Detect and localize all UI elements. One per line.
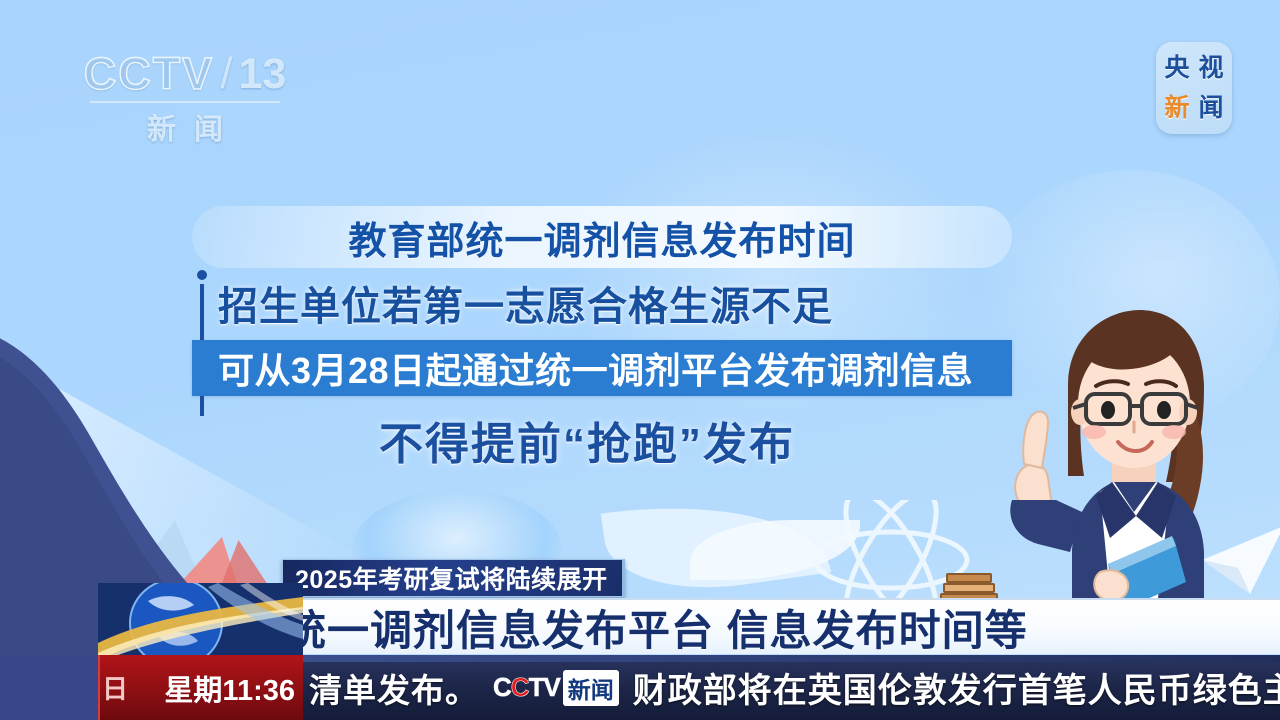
ticker-content: 清单发布。 CCTV 新闻 财政部将在英国伦敦发行首笔人民币绿色主权 — [303, 655, 1280, 720]
info-line-2: 招生单位若第一志愿合格生源不足 — [192, 274, 1012, 332]
cctv-news-mini-logo: CCTV 新闻 — [493, 670, 619, 706]
info-line-4: 不得提前“抢跑”发布 — [192, 408, 1012, 472]
info-line-3: 可从3月28日起通过统一调剂平台发布调剂信息 — [192, 340, 1012, 396]
news-ticker: 日 星期11:36 清单发布。 CCTV 新闻 财政部将在英国伦敦发行首笔人民币… — [0, 655, 1280, 720]
channel-number: 13 — [238, 50, 286, 99]
infographic-panel: 教育部统一调剂信息发布时间 招生单位若第一志愿合格生源不足 可从3月28日起通过… — [192, 206, 1012, 472]
headline-text: 统一调剂信息发布平台 信息发布时间等 — [284, 597, 1028, 658]
logo-char-xin: 新 — [1164, 96, 1189, 121]
ticker-clock: 日 星期11:36 — [98, 655, 303, 720]
logo-char-wen: 闻 — [1198, 96, 1223, 121]
ticker-headline-text: 财政部将在英国伦敦发行首笔人民币绿色主权 — [633, 663, 1280, 712]
logo-char-yang: 央 — [1164, 56, 1189, 81]
ticker-time: 星期11:36 — [164, 667, 295, 709]
yangshi-xinwen-logo: 央 视 新 闻 — [1156, 42, 1232, 134]
cctv-mini-wordmark: CCTV — [493, 672, 560, 703]
marker-dot — [197, 270, 207, 280]
cctv13-channel-bug: CCTV / 13 新闻 — [70, 48, 300, 148]
cctv-slash: / — [220, 49, 232, 99]
ticker-left-wedge — [0, 655, 100, 720]
info-line-1: 教育部统一调剂信息发布时间 — [192, 206, 1012, 268]
ticker-date: 日 — [102, 669, 128, 706]
ticker-previous-text: 清单发布。 — [309, 664, 479, 712]
cctv-underline — [90, 101, 280, 103]
globe-graphic — [98, 583, 303, 655]
presenter-illustration — [960, 286, 1280, 616]
headline-bar: 统一调剂信息发布平台 信息发布时间等 — [272, 598, 1280, 654]
kicker-bar: 2025年考研复试将陆续展开 — [282, 559, 625, 597]
background-wave-shape-1 — [601, 483, 831, 603]
info-line-3-text: 可从3月28日起通过统一调剂平台发布调剂信息 — [218, 342, 973, 394]
info-line-1-text: 教育部统一调剂信息发布时间 — [348, 210, 855, 265]
channel-subtitle: 新闻 — [129, 106, 241, 148]
kicker-text: 2025年考研复试将陆续展开 — [295, 560, 608, 596]
broadcast-screen: CCTV / 13 新闻 央 视 新 闻 教育部统一调剂信息发布时间 招生单位若… — [0, 0, 1280, 720]
cctv-mini-news-label: 新闻 — [563, 670, 619, 706]
cctv-wordmark: CCTV — [84, 48, 215, 100]
info-line-4-text: 不得提前“抢跑”发布 — [379, 420, 795, 469]
info-line-2-text: 招生单位若第一志愿合格生源不足 — [218, 285, 833, 329]
logo-char-shi: 视 — [1198, 56, 1223, 81]
